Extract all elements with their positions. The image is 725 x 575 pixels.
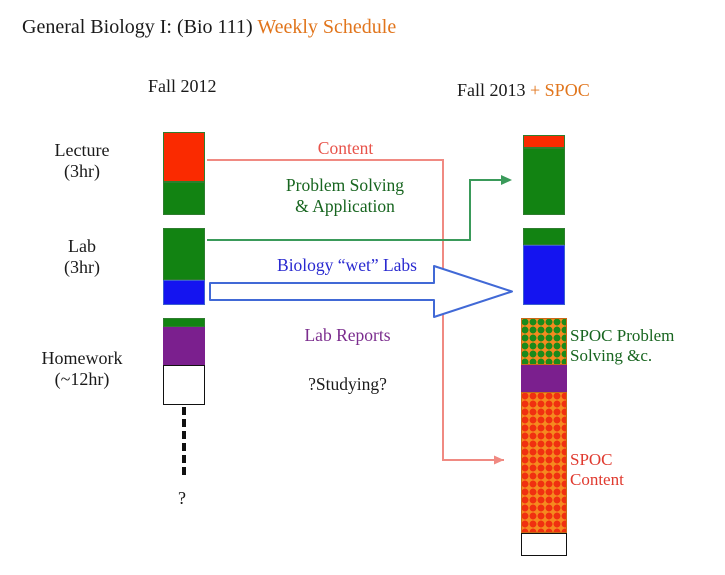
segment-lecture-content: [163, 132, 205, 182]
bar-fall2013-lab: [523, 228, 565, 305]
segment-lecture-problem-solving: [163, 182, 205, 215]
column-header-right-label: Fall 2013: [457, 80, 526, 100]
row-label-lecture-line1: Lecture: [22, 140, 142, 161]
annotation-wet-labs: Biology “wet” Labs: [222, 255, 472, 276]
annotation-spoc-content: SPOC Content: [570, 450, 624, 491]
segment-spoc-lecture-problem-solving: [523, 148, 565, 215]
segment-spoc-lab-reports: [521, 365, 567, 392]
annotation-spoc-problem-solving-line1: SPOC Problem: [570, 326, 674, 346]
row-label-lab: Lab (3hr): [22, 236, 142, 277]
segment-homework-problem-solving: [163, 318, 205, 327]
bar-fall2012-lecture: [163, 132, 205, 215]
annotation-lab-reports: Lab Reports: [240, 325, 455, 346]
column-header-left-label: Fall 2012: [148, 76, 217, 96]
segment-homework-studying: [163, 365, 205, 405]
row-label-lab-line1: Lab: [22, 236, 142, 257]
segment-spoc-problem-solving: [521, 318, 567, 365]
segment-spoc-content: [521, 392, 567, 533]
column-header-fall-2013: Fall 2013 + SPOC: [457, 80, 590, 101]
segment-lab-problem-solving: [163, 228, 205, 280]
row-label-homework-line1: Homework: [2, 348, 162, 369]
annotation-content: Content: [238, 138, 453, 159]
row-label-lecture-line2: (3hr): [22, 161, 142, 182]
bar-fall2012-homework: [163, 318, 205, 405]
segment-spoc-studying: [521, 533, 567, 556]
bar-fall2013-homework: [521, 318, 567, 556]
row-label-homework: Homework (~12hr): [2, 348, 162, 389]
homework-uncertainty-dashed-line: [182, 407, 186, 475]
annotation-spoc-content-line2: Content: [570, 470, 624, 490]
homework-question-mark: ?: [170, 488, 194, 509]
row-label-lab-line2: (3hr): [22, 257, 142, 278]
slide-canvas: General Biology I: (Bio 111) Weekly Sche…: [0, 0, 725, 575]
segment-spoc-lab-wet-labs: [523, 245, 565, 305]
segment-spoc-lab-problem-solving: [523, 228, 565, 245]
annotation-studying: ?Studying?: [240, 374, 455, 395]
page-title: General Biology I: (Bio 111) Weekly Sche…: [22, 16, 396, 39]
page-title-accent: Weekly Schedule: [257, 16, 396, 38]
page-title-main: General Biology I: (Bio 111): [22, 16, 253, 38]
column-header-right-accent: + SPOC: [530, 80, 590, 100]
bar-fall2012-lab: [163, 228, 205, 305]
column-header-fall-2012: Fall 2012: [148, 76, 217, 97]
annotation-problem-solving-line1: Problem Solving: [230, 175, 460, 196]
annotation-spoc-problem-solving: SPOC Problem Solving &c.: [570, 326, 674, 367]
segment-homework-lab-reports: [163, 327, 205, 365]
annotation-problem-solving-line2: & Application: [230, 196, 460, 217]
segment-spoc-lecture-content: [523, 135, 565, 148]
row-label-homework-line2: (~12hr): [2, 369, 162, 390]
annotation-spoc-content-line1: SPOC: [570, 450, 624, 470]
segment-lab-wet-labs: [163, 280, 205, 305]
bar-fall2013-lecture: [523, 135, 565, 215]
annotation-problem-solving: Problem Solving & Application: [230, 175, 460, 217]
row-label-lecture: Lecture (3hr): [22, 140, 142, 181]
annotation-spoc-problem-solving-line2: Solving &c.: [570, 346, 674, 366]
